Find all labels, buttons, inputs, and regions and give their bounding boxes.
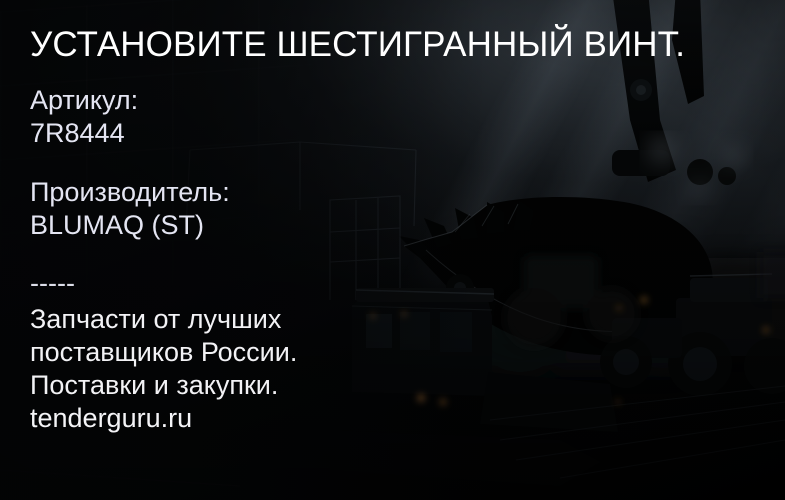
text-divider: -----	[30, 268, 75, 298]
banner-content: УСТАНОВИТЕ ШЕСТИГРАННЫЙ ВИНТ. Артикул: 7…	[30, 0, 770, 500]
promo-block: Запчасти от лучших поставщиков России. П…	[30, 303, 297, 435]
site-url: tenderguru.ru	[30, 402, 297, 435]
article-value: 7R8444	[30, 117, 138, 150]
manufacturer-field: Производитель: BLUMAQ (ST)	[30, 176, 230, 242]
product-title: УСТАНОВИТЕ ШЕСТИГРАННЫЙ ВИНТ.	[30, 24, 685, 66]
manufacturer-label: Производитель:	[30, 177, 230, 207]
article-label: Артикул:	[30, 85, 138, 115]
promo-line-3: Поставки и закупки.	[30, 369, 297, 402]
product-banner: УСТАНОВИТЕ ШЕСТИГРАННЫЙ ВИНТ. Артикул: 7…	[0, 0, 785, 500]
promo-line-1: Запчасти от лучших	[30, 303, 297, 336]
promo-line-2: поставщиков России.	[30, 336, 297, 369]
manufacturer-value: BLUMAQ (ST)	[30, 209, 230, 242]
article-field: Артикул: 7R8444	[30, 84, 138, 150]
